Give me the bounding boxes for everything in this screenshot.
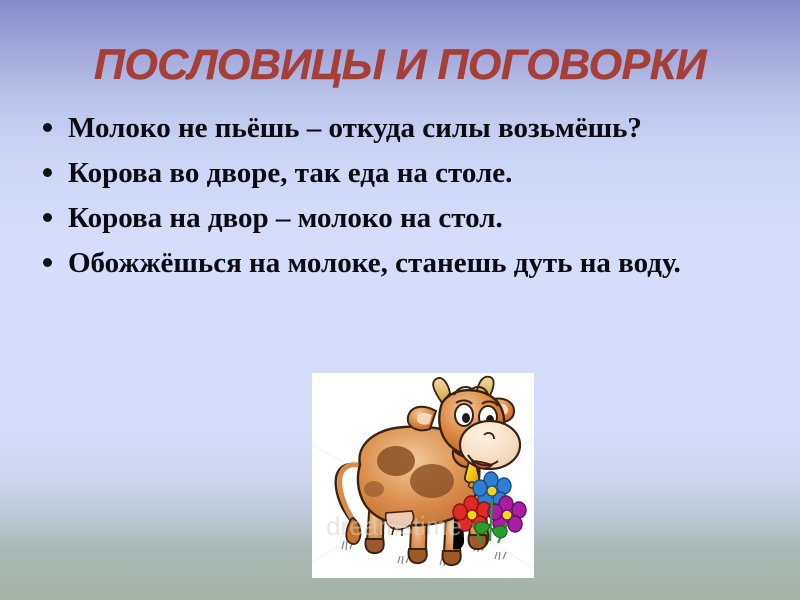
cow-spot xyxy=(410,464,454,498)
watermark-text: dreamstime xyxy=(326,511,462,541)
bullet-dot-icon xyxy=(43,123,52,132)
list-item: Корова на двор – молоко на стол. xyxy=(34,200,782,237)
cow-spot xyxy=(364,481,384,497)
list-item-label: Корова на двор – молоко на стол. xyxy=(68,200,782,237)
proverb-list: Молоко не пьёшь – откуда силы возьмёшь? … xyxy=(34,110,782,290)
list-item-label: Молоко не пьёшь – откуда силы возьмёшь? xyxy=(68,110,782,147)
cow-hoof-back-left xyxy=(365,539,383,553)
cow-illustration-svg: dreamstime xyxy=(312,373,534,578)
list-item: Корова во дворе, так еда на столе. xyxy=(34,155,782,192)
cow-muzzle xyxy=(460,421,520,469)
bullet-dot-icon xyxy=(43,213,52,222)
bullet-dot-icon xyxy=(43,258,52,267)
cow-pupil-left xyxy=(462,413,470,423)
list-item: Обожжёшься на молоке, станешь дуть на во… xyxy=(34,245,782,282)
slide-canvas: ПОСЛОВИЦЫ И ПОГОВОРКИ Молоко не пьёшь – … xyxy=(0,0,800,600)
list-item-label: Корова во дворе, так еда на столе. xyxy=(68,155,782,192)
cow-hoof-back-right xyxy=(408,549,426,563)
cow-hoof-front-left xyxy=(442,551,460,565)
cow-picture: dreamstime xyxy=(312,373,534,578)
list-item: Молоко не пьёшь – откуда силы возьмёшь? xyxy=(34,110,782,147)
cow-spot xyxy=(377,446,415,476)
bullet-dot-icon xyxy=(43,168,52,177)
page-title: ПОСЛОВИЦЫ И ПОГОВОРКИ xyxy=(0,40,800,90)
cow-hoof-front-right xyxy=(468,535,486,549)
list-item-label: Обожжёшься на молоке, станешь дуть на во… xyxy=(68,245,782,282)
